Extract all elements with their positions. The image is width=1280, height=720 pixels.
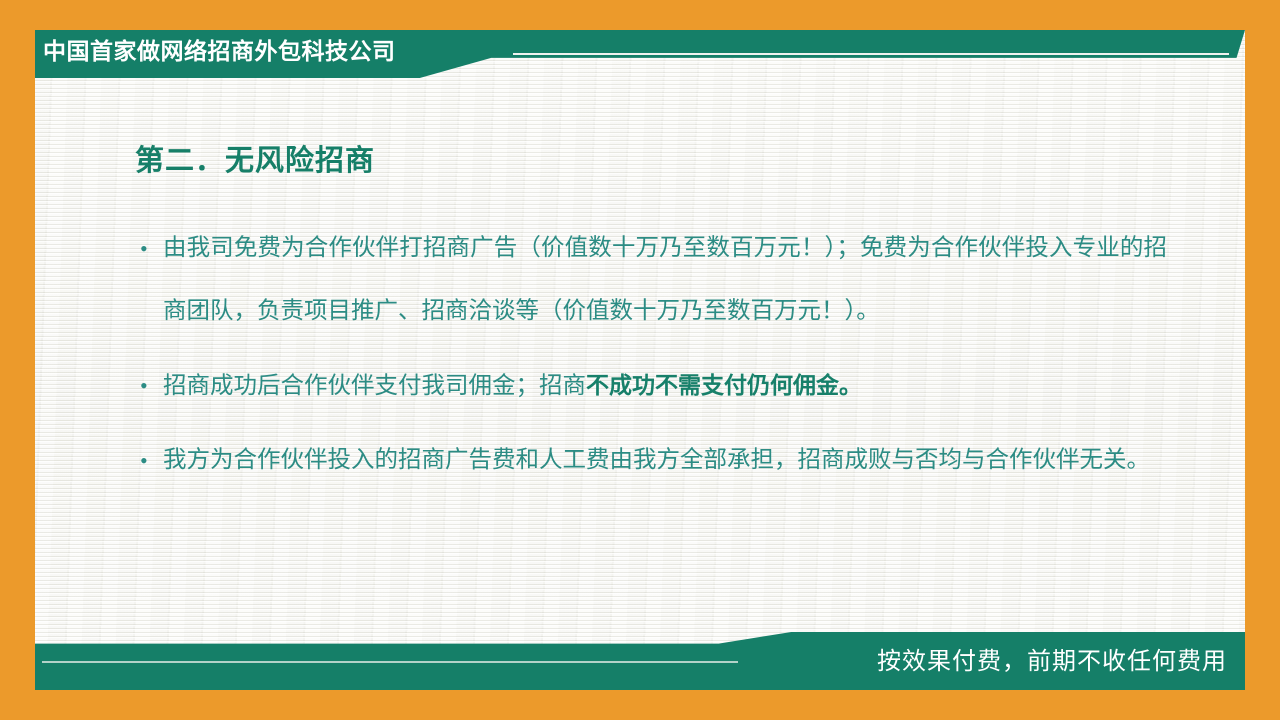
- list-item-text: 招商成功后合作伙伴支付我司佣金；招商: [163, 373, 586, 399]
- bullet-list: • 由我司免费为合作伙伴打招商广告（价值数十万乃至数百万元！）；免费为合作伙伴投…: [137, 217, 1167, 503]
- list-item: • 由我司免费为合作伙伴打招商广告（价值数十万乃至数百万元！）；免费为合作伙伴投…: [137, 217, 1167, 343]
- bullet-marker-icon: •: [140, 354, 148, 417]
- header-hairline-divider: [513, 53, 1229, 55]
- footer-tagline: 按效果付费，前期不收任何费用: [877, 640, 1227, 684]
- company-tagline: 中国首家做网络招商外包科技公司: [43, 30, 396, 72]
- page-title: 第二．无风险招商: [135, 137, 375, 179]
- slide-header: 中国首家做网络招商外包科技公司: [35, 30, 1245, 78]
- list-item-emphasis: 不成功不需支付仍何佣金。: [586, 372, 862, 398]
- bullet-marker-icon: •: [140, 217, 148, 280]
- slide-content: 第二．无风险招商 • 由我司免费为合作伙伴打招商广告（价值数十万乃至数百万元！）…: [35, 92, 1245, 622]
- slide-footer: 按效果付费，前期不收任何费用: [35, 632, 1245, 690]
- list-item: • 我方为合作伙伴投入的招商广告费和人工费由我方全部承担，招商成败与否均与合作伙…: [137, 429, 1167, 492]
- list-item-text: 由我司免费为合作伙伴打招商广告（价值数十万乃至数百万元！）；免费为合作伙伴投入专…: [163, 235, 1167, 324]
- footer-hairline-divider: [42, 661, 738, 663]
- slide-canvas: 中国首家做网络招商外包科技公司 第二．无风险招商 • 由我司免费为合作伙伴打招商…: [0, 0, 1280, 720]
- list-item-text: 我方为合作伙伴投入的招商广告费和人工费由我方全部承担，招商成败与否均与合作伙伴无…: [163, 447, 1150, 473]
- bullet-marker-icon: •: [140, 429, 148, 492]
- list-item: • 招商成功后合作伙伴支付我司佣金；招商不成功不需支付仍何佣金。: [137, 354, 1167, 418]
